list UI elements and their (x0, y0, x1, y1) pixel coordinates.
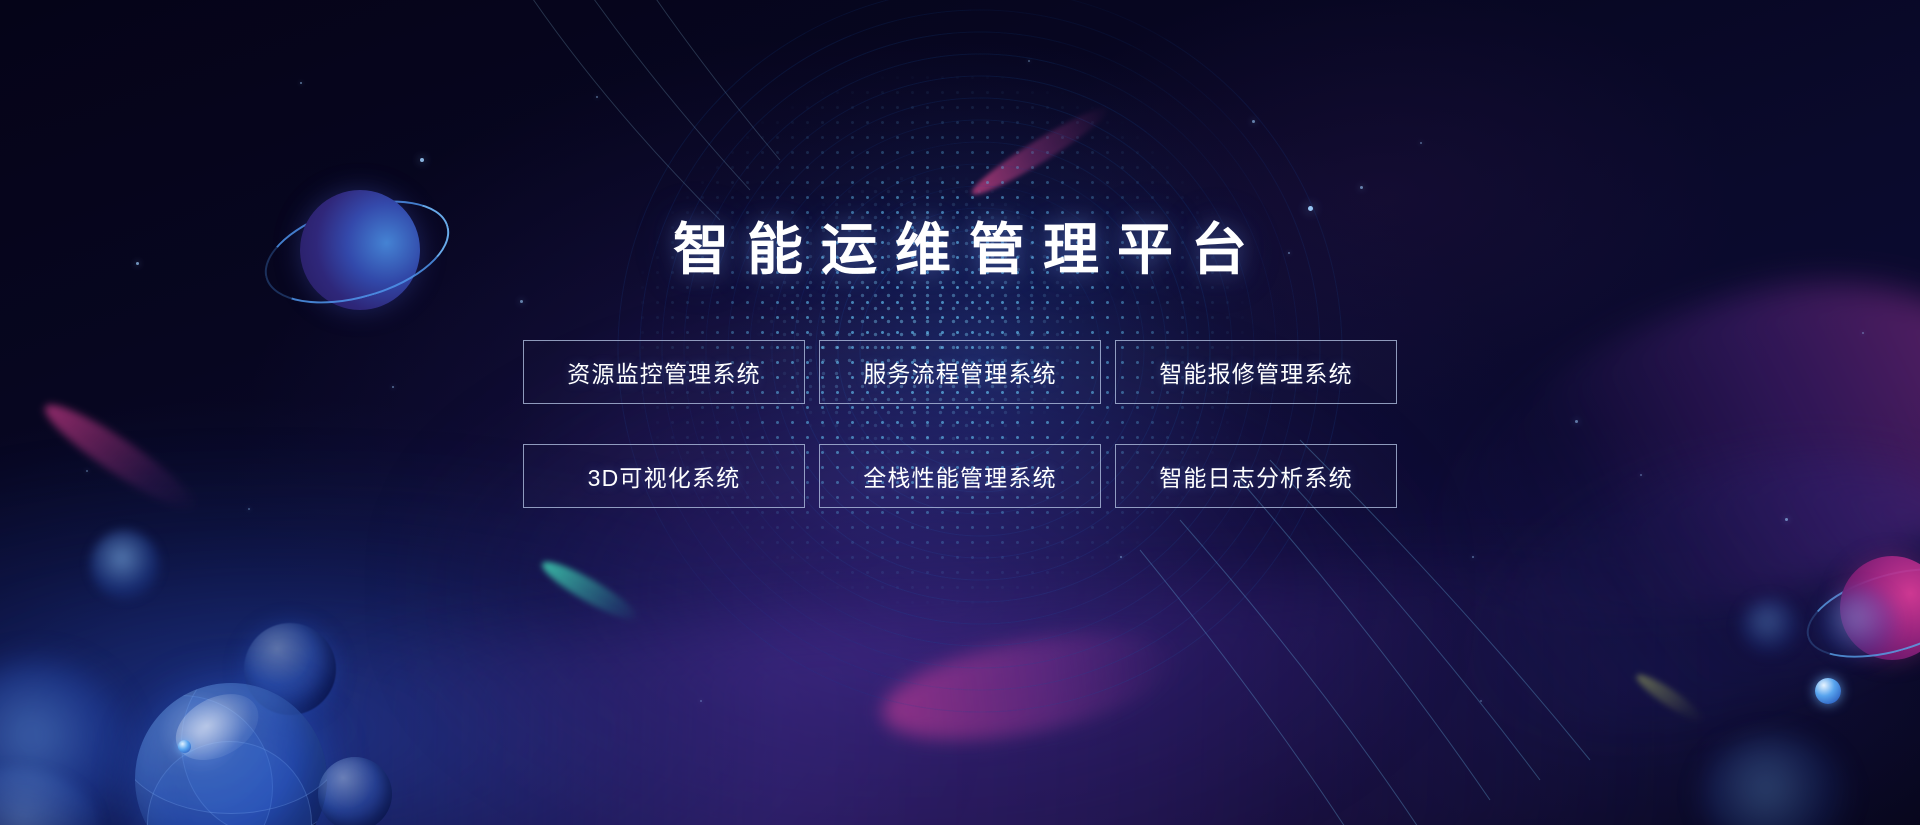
system-button-3d-visualization[interactable]: 3D可视化系统 (523, 444, 805, 508)
system-button-service-process[interactable]: 服务流程管理系统 (819, 340, 1101, 404)
hero-content: 智能运维管理平台 资源监控管理系统服务流程管理系统智能报修管理系统3D可视化系统… (0, 0, 1920, 825)
system-button-fullstack-apm[interactable]: 全栈性能管理系统 (819, 444, 1101, 508)
system-button-smart-log[interactable]: 智能日志分析系统 (1115, 444, 1397, 508)
system-button-smart-repair[interactable]: 智能报修管理系统 (1115, 340, 1397, 404)
page-title: 智能运维管理平台 (655, 222, 1265, 278)
system-button-resource-monitor[interactable]: 资源监控管理系统 (523, 340, 805, 404)
hero-banner: 智能运维管理平台 资源监控管理系统服务流程管理系统智能报修管理系统3D可视化系统… (0, 0, 1920, 825)
system-button-grid: 资源监控管理系统服务流程管理系统智能报修管理系统3D可视化系统全栈性能管理系统智… (523, 340, 1397, 508)
